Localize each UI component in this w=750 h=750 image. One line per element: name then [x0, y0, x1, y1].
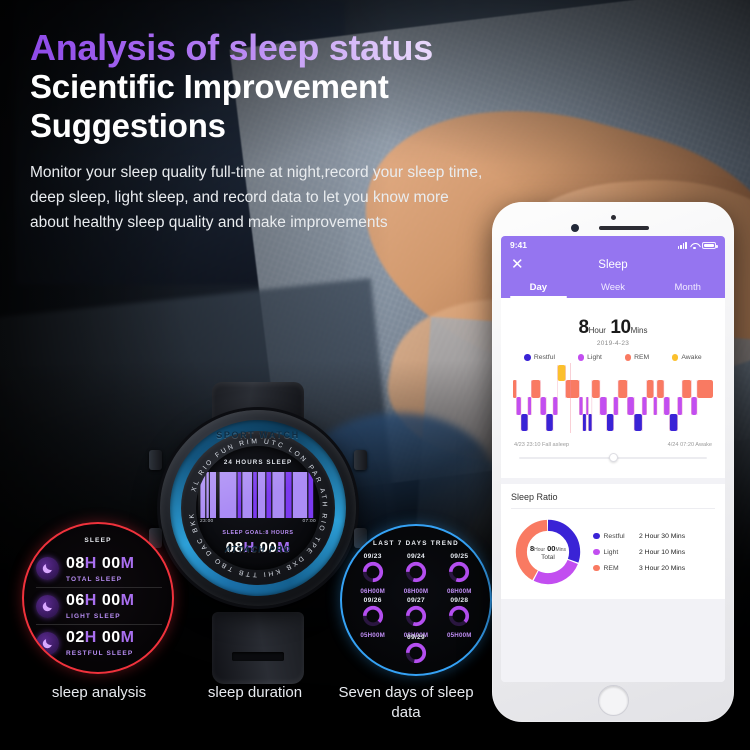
total-mins: 10 — [610, 317, 630, 338]
total-sleep-hours-unit: H — [85, 555, 97, 572]
day-value: 08H00M — [439, 588, 480, 595]
day-date: 09/23 — [352, 553, 393, 560]
day-cell: 09/25 08H00M — [439, 553, 480, 595]
ratio-row-restful: Restful 2 Hour 30 Mins — [593, 528, 715, 544]
light-sleep-mins-unit: M — [121, 592, 135, 609]
day-cell: 09/27 08H00M — [395, 597, 436, 639]
watch-brand-top: SPORT WATCH — [214, 430, 302, 440]
total-sleep-value: 8Hour 10Mins — [511, 317, 715, 339]
watch-strap-bottom — [212, 612, 304, 684]
light-sleep-mins: 00 — [102, 592, 121, 609]
seven-days-title: LAST 7 DAYS TREND — [342, 540, 490, 547]
smartwatch-mockup: XL RIO FUN RIM UTC LON PAR ATH RIO TPE D… — [152, 388, 364, 678]
sleep-analysis-row-total: 08H 00M TOTAL SLEEP — [36, 550, 162, 587]
sleep-ratio-list: Restful 2 Hour 30 Mins Light 2 Hour 10 M… — [593, 528, 715, 576]
restful-sleep-value: 02H 00M — [66, 629, 134, 646]
watch-button-top-right[interactable] — [354, 450, 367, 470]
total-sleep-value: 08H 00M — [66, 555, 134, 572]
legend-dot-rem — [625, 354, 632, 361]
day-ring — [362, 605, 384, 627]
day-value: 08H00M — [395, 588, 436, 595]
watch-time-range: 23:00 07:00 — [200, 519, 316, 524]
legend-item-restful: Restful — [524, 354, 555, 361]
day-date: 09/27 — [395, 597, 436, 604]
sleep-stage-chart[interactable] — [513, 363, 713, 441]
status-bar-time: 9:41 — [510, 240, 527, 250]
tab-week[interactable]: Week — [576, 279, 651, 298]
donut-center-label: 8Hour 00Mins Total — [511, 515, 585, 589]
day-cell: 09/26 05H00M — [352, 597, 393, 639]
sleep-ratio-donut: 8Hour 00Mins Total — [511, 515, 585, 589]
total-mins-unit: Mins — [631, 326, 648, 335]
day-cell: 09/29 — [342, 634, 490, 669]
phone-screen: 9:41 ✕ Sleep Day Week Month — [501, 236, 725, 682]
ratio-label-rem: REM — [604, 565, 619, 572]
restful-sleep-hours-unit: H — [85, 629, 97, 646]
headline-block: Analysis of sleep status Scientific Impr… — [30, 28, 500, 146]
battery-icon — [702, 242, 716, 249]
day-cell: 09/24 08H00M — [395, 553, 436, 595]
total-hours: 8 — [579, 317, 589, 338]
caption-sleep-analysis: sleep analysis — [24, 683, 174, 703]
seven-days-callout: LAST 7 DAYS TREND 09/23 06H00M 09/24 08H… — [340, 524, 492, 676]
app-content[interactable]: 8Hour 10Mins 2019-4-23 Restful Light — [501, 298, 725, 682]
total-sleep-date: 2019-4-23 — [511, 340, 715, 347]
moon-icon — [36, 595, 59, 618]
home-button[interactable] — [598, 685, 629, 716]
timeline-slider[interactable] — [519, 453, 707, 462]
caption-sleep-duration: sleep duration — [180, 683, 330, 703]
ratio-label-restful: Restful — [604, 533, 625, 540]
sleep-analysis-row-light: 06H 00M LIGHT SLEEP — [36, 587, 162, 624]
light-sleep-value: 06H 00M — [66, 592, 134, 609]
legend-label-light: Light — [587, 354, 602, 361]
ratio-row-rem: REM 3 Hour 20 Mins — [593, 560, 715, 576]
watch-time-start: 23:00 — [200, 519, 214, 524]
total-sleep-label: TOTAL SLEEP — [66, 576, 162, 583]
watch-time-end: 07:00 — [302, 519, 316, 524]
signal-bars-icon — [678, 242, 687, 249]
restful-sleep-mins: 00 — [102, 629, 121, 646]
donut-hours-unit: Hour — [534, 547, 545, 553]
day-ring — [405, 605, 427, 627]
front-camera-icon — [611, 215, 616, 220]
legend-item-rem: REM — [625, 354, 650, 361]
day-date: 09/25 — [439, 553, 480, 560]
legend-label-rem: REM — [634, 354, 649, 361]
donut-mins-unit: Mins — [555, 547, 566, 553]
fall-asleep-label: 4/23 23:10 Fall asleep — [514, 442, 569, 448]
ratio-dot-restful — [593, 533, 600, 540]
moon-star-icon — [36, 632, 59, 655]
day-date: 09/26 — [352, 597, 393, 604]
phone-mockup: 9:41 ✕ Sleep Day Week Month — [492, 202, 734, 722]
day-ring — [448, 561, 470, 583]
sleep-stage-chart-svg — [513, 363, 713, 441]
watch-sleep-bars — [198, 472, 318, 518]
legend-item-light: Light — [578, 354, 602, 361]
chart-footer: 4/23 23:10 Fall asleep 4/24 07:20 Awake — [511, 441, 715, 448]
total-sleep-block: 8Hour 10Mins 2019-4-23 — [511, 307, 715, 347]
restful-sleep-mins-unit: M — [121, 629, 135, 646]
caption-seven-days: Seven days of sleep data — [336, 683, 476, 722]
headline-line-3: Suggestions — [30, 107, 500, 146]
slider-knob[interactable] — [609, 453, 618, 462]
total-hours-unit: Hour — [589, 326, 606, 335]
body-paragraph: Monitor your sleep quality full-time at … — [30, 160, 485, 235]
legend-label-awake: Awake — [681, 354, 701, 361]
light-sleep-hours: 06 — [66, 592, 85, 609]
watch-button-top-left[interactable] — [149, 450, 162, 470]
wifi-icon — [690, 242, 699, 249]
ratio-dot-rem — [593, 565, 600, 572]
light-sleep-label: LIGHT SLEEP — [66, 613, 162, 620]
sleep-analysis-callout: SLEEP 08H 00M TOTAL SLEEP — [22, 522, 174, 674]
earpiece-speaker — [599, 226, 649, 230]
day-date: 09/29 — [342, 634, 490, 641]
total-sleep-mins-unit: M — [121, 555, 135, 572]
watch-brand-bottom: ATTACH PRO — [214, 544, 302, 554]
day-value: 06H00M — [352, 588, 393, 595]
day-ring — [448, 605, 470, 627]
ratio-row-light: Light 2 Hour 10 Mins — [593, 544, 715, 560]
day-date: 09/24 — [395, 553, 436, 560]
legend-label-restful: Restful — [534, 354, 555, 361]
tab-day[interactable]: Day — [501, 279, 576, 298]
restful-sleep-label: RESTFUL SLEEP — [66, 650, 162, 657]
headline-line-1: Analysis of sleep status — [30, 28, 500, 68]
page-title: Sleep — [501, 259, 725, 271]
donut-total-label: Total — [541, 554, 555, 561]
day-cell: 09/23 06H00M — [352, 553, 393, 595]
day-ring — [362, 561, 384, 583]
ratio-label-light: Light — [604, 549, 619, 556]
total-sleep-mins: 00 — [102, 555, 121, 572]
app-header: 9:41 ✕ Sleep Day Week Month — [501, 236, 725, 298]
app-navbar: ✕ Sleep — [501, 252, 725, 279]
legend-dot-light — [578, 354, 585, 361]
sleep-ratio-card: Sleep Ratio 8Hour 00Mins Total — [501, 484, 725, 599]
legend-dot-restful — [524, 354, 531, 361]
period-tabs: Day Week Month — [501, 279, 725, 298]
legend-item-awake: Awake — [672, 354, 702, 361]
poster-root: Analysis of sleep status Scientific Impr… — [0, 0, 750, 750]
ratio-dot-light — [593, 549, 600, 556]
sleep-analysis-title: SLEEP — [24, 537, 172, 544]
day-cell: 09/28 05H00M — [439, 597, 480, 639]
sleep-analysis-row-restful: 02H 00M RESTFUL SLEEP — [36, 624, 162, 661]
day-ring — [405, 561, 427, 583]
seven-days-last-cell: 09/29 — [342, 634, 490, 669]
restful-sleep-hours: 02 — [66, 629, 85, 646]
day-ring — [405, 642, 427, 664]
light-sleep-hours-unit: H — [85, 592, 97, 609]
tab-month[interactable]: Month — [650, 279, 725, 298]
moon-zzz-icon — [36, 557, 59, 580]
chart-legend: Restful Light REM Awake — [513, 354, 713, 361]
watch-sleep-goal: SLEEP GOAL:8 HOURS — [196, 530, 320, 536]
watch-screen-title: 24 HOURS SLEEP — [196, 459, 320, 466]
headline-line-2: Scientific Improvement — [30, 68, 500, 107]
watch-case: XL RIO FUN RIM UTC LON PAR ATH RIO TPE D… — [160, 410, 356, 606]
awake-label: 4/24 07:20 Awake — [668, 442, 712, 448]
day-date: 09/28 — [439, 597, 480, 604]
divider — [511, 508, 715, 509]
seven-days-grid: 09/23 06H00M 09/24 08H00M 09/25 08H00M 0… — [352, 553, 480, 639]
legend-dot-awake — [672, 354, 679, 361]
proximity-sensor-icon — [571, 224, 579, 232]
ratio-value-restful: 2 Hour 30 Mins — [639, 533, 685, 540]
ratio-value-rem: 3 Hour 20 Mins — [639, 565, 685, 572]
total-sleep-hours: 08 — [66, 555, 85, 572]
sleep-timeline-card: 8Hour 10Mins 2019-4-23 Restful Light — [501, 298, 725, 478]
ratio-value-light: 2 Hour 10 Mins — [639, 549, 685, 556]
sleep-ratio-title: Sleep Ratio — [511, 492, 715, 502]
status-bar: 9:41 — [501, 236, 725, 252]
